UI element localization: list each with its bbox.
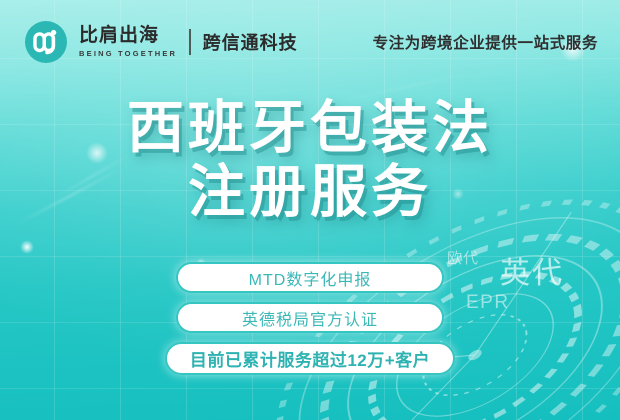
glow-dot-icon: [452, 188, 464, 200]
headline-line-1: 西班牙包装法: [0, 96, 620, 160]
light-streak-icon: [52, 154, 131, 200]
headline-line-2: 注册服务: [0, 160, 620, 224]
feature-pill-cert[interactable]: 英德税局官方认证: [176, 302, 444, 333]
feature-pill-mtd[interactable]: MTD数字化申报: [176, 262, 444, 293]
feature-pill-list: MTD数字化申报 英德税局官方认证 目前已累计服务超过12万+客户: [0, 262, 620, 375]
feature-pill-customers[interactable]: 目前已累计服务超过12万+客户: [165, 342, 455, 375]
brand-primary-name: 比肩出海 BEING TOGETHER: [79, 26, 177, 58]
promo-banner: 欧代 英代 EPR 比肩出海 BEING TOGETHER: [0, 0, 620, 420]
brand-text-block: 比肩出海 BEING TOGETHER 跨信通科技: [79, 26, 298, 58]
headline-block: 西班牙包装法 注册服务: [0, 96, 620, 225]
header-tagline: 专注为跨境企业提供一站式服务: [373, 31, 598, 53]
being-together-logo-icon: [24, 20, 68, 64]
brand-name-en: BEING TOGETHER: [79, 49, 177, 58]
glow-dot-icon: [86, 142, 108, 164]
brand-divider: [189, 29, 191, 55]
glow-dot-icon: [20, 240, 34, 254]
light-streak-icon: [15, 168, 122, 226]
brand-name-cn: 比肩出海: [79, 26, 177, 47]
banner-header: 比肩出海 BEING TOGETHER 跨信通科技 专注为跨境企业提供一站式服务: [0, 0, 620, 84]
brand-company-name: 跨信通科技: [203, 29, 298, 55]
brand-lockup: 比肩出海 BEING TOGETHER 跨信通科技: [24, 20, 298, 64]
